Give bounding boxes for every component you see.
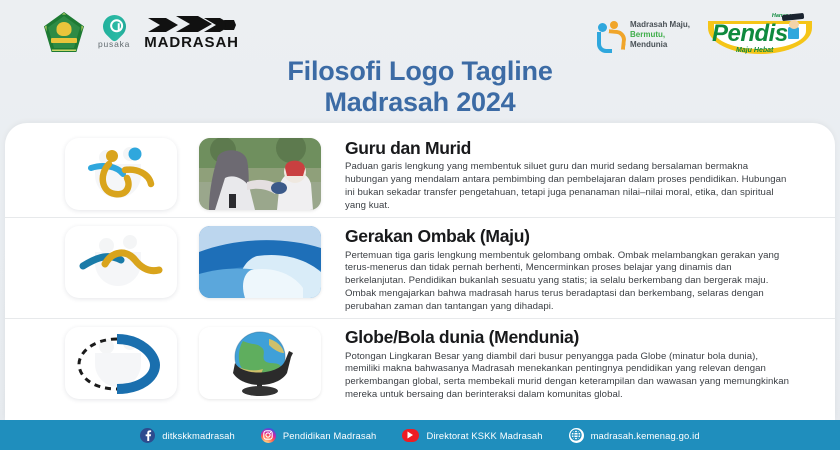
page-title: Filosofi Logo Tagline Madrasah 2024 (0, 56, 840, 117)
footer-label-website: madrasah.kemenag.go.id (591, 430, 700, 441)
globe-web-icon[interactable] (569, 428, 584, 443)
header: pusaka MADRASAH (0, 0, 840, 124)
footer-item-youtube[interactable]: Direktorat KSKK Madrasah (402, 429, 542, 442)
globe-photo-art (199, 327, 321, 399)
globe-photo (199, 327, 321, 399)
globe-arc-icon (65, 327, 177, 399)
section-heading: Gerakan Ombak (Maju) (345, 227, 791, 246)
handshake-mark-art (65, 138, 177, 210)
footer-label-instagram: Pendidikan Madrasah (283, 430, 377, 441)
footer-item-facebook[interactable]: ditkskkmadrasah (140, 428, 235, 443)
section-globe-bola-dunia: Globe/Bola dunia (Mendunia) Potongan Lin… (5, 318, 835, 406)
teacher-student-photo (199, 138, 321, 210)
maju-tagline: Madrasah Maju, Bermutu, Mendunia (630, 20, 690, 50)
madrasah-logo: MADRASAH (144, 14, 239, 50)
section-body: Pertemuan tiga garis lengkung membentuk … (345, 250, 791, 314)
section-heading: Globe/Bola dunia (Mendunia) (345, 328, 791, 347)
footer-label-facebook: ditkskkmadrasah (162, 430, 235, 441)
madrasah-chevron-icon (146, 14, 238, 34)
maju-tagline-line3: Mendunia (630, 40, 690, 50)
section-text-gerakan-ombak: Gerakan Ombak (Maju) Pertemuan tiga gari… (321, 222, 821, 315)
maju-tagline-line2: Bermutu, (630, 30, 690, 40)
poster: pusaka MADRASAH (0, 0, 840, 450)
content-card: Guru dan Murid Paduan garis lengkung yan… (5, 123, 835, 420)
maju-figures-icon (597, 20, 624, 50)
footer-bar: ditkskkmadrasah Pendidikan Madrasah Dire… (0, 420, 840, 450)
footer-item-instagram[interactable]: Pendidikan Madrasah (261, 428, 377, 443)
kemenag-emblem (57, 22, 72, 36)
pendis-graduate-icon (784, 14, 804, 38)
section-heading: Guru dan Murid (345, 139, 791, 158)
footer-label-youtube: Direktorat KSKK Madrasah (426, 430, 542, 441)
header-logos-right: Madrasah Maju, Bermutu, Mendunia Pendis … (597, 12, 818, 58)
footer-item-website[interactable]: madrasah.kemenag.go.id (569, 428, 700, 443)
instagram-icon[interactable] (261, 428, 276, 443)
youtube-icon[interactable] (402, 429, 419, 442)
header-logos-left: pusaka MADRASAH (44, 12, 239, 52)
section-guru-dan-murid: Guru dan Murid Paduan garis lengkung yan… (5, 130, 835, 217)
two-figures-handshake-icon (65, 138, 177, 210)
section-body: Potongan Lingkaran Besar yang diambil da… (345, 351, 791, 402)
kemenag-logo (44, 12, 84, 52)
ocean-wave-photo-art (199, 226, 321, 298)
pendis-sub-text: Maju Hebat (736, 47, 773, 54)
section-gerakan-ombak: Gerakan Ombak (Maju) Pertemuan tiga gari… (5, 217, 835, 318)
wave-lines-icon (65, 226, 177, 298)
madrasah-maju-logo: Madrasah Maju, Bermutu, Mendunia (597, 20, 690, 50)
ocean-wave-photo (199, 226, 321, 298)
maju-tagline-line1: Madrasah Maju, (630, 20, 690, 30)
wave-mark-art (65, 226, 177, 298)
facebook-icon[interactable] (140, 428, 155, 443)
teacher-student-photo-art (199, 138, 321, 210)
page-title-line2: Madrasah 2024 (0, 87, 840, 118)
section-text-globe-bola-dunia: Globe/Bola dunia (Mendunia) Potongan Lin… (321, 323, 821, 403)
section-text-guru-dan-murid: Guru dan Murid Paduan garis lengkung yan… (321, 134, 821, 214)
pendis-logo: Pendis Hanya ya Maju Hebat (706, 12, 818, 58)
madrasah-wordmark: MADRASAH (144, 35, 239, 50)
globe-arc-mark-art (65, 327, 177, 399)
kemenag-banner (51, 38, 77, 43)
pendis-wordmark: Pendis (712, 20, 788, 48)
section-body: Paduan garis lengkung yang membentuk sil… (345, 161, 791, 212)
pusaka-logo: pusaka (98, 15, 130, 49)
page-title-line1: Filosofi Logo Tagline (0, 56, 840, 87)
pusaka-droplet-icon (98, 10, 131, 43)
